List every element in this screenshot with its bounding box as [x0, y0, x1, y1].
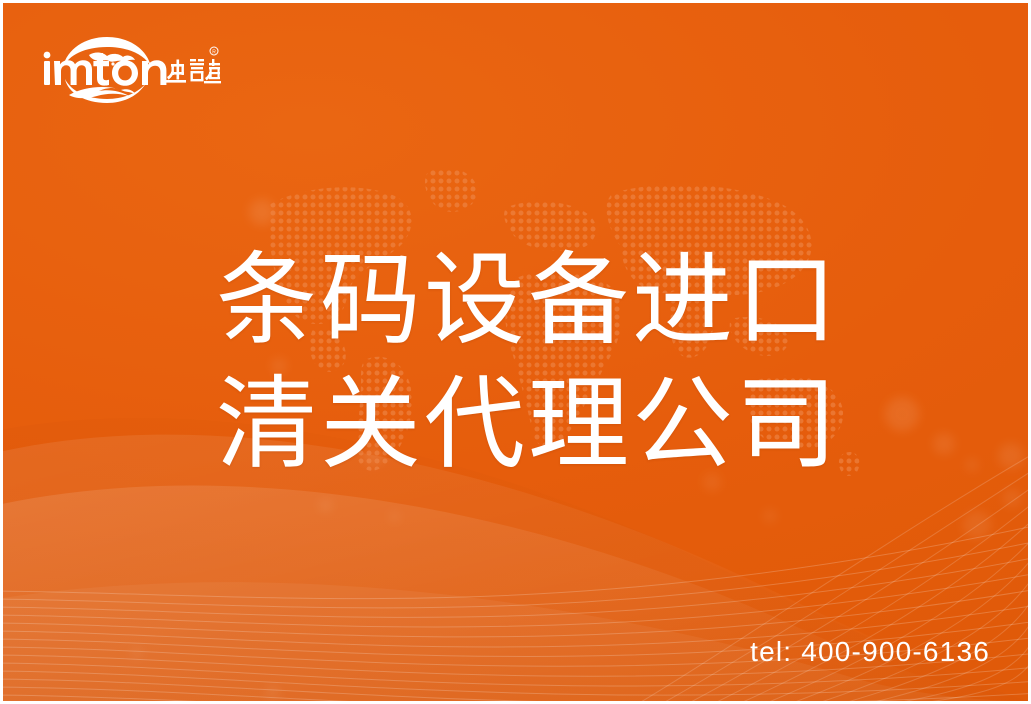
headline-line-1: 条码设备进口 [216, 239, 840, 363]
svg-text:R: R [212, 49, 216, 55]
promo-banner: R 条码设备进口 清关代理公司 tel: 400-900-6136 [0, 0, 1031, 704]
headline-line-2: 清关代理公司 [216, 363, 840, 487]
headline: 条码设备进口 清关代理公司 [216, 239, 840, 487]
brand-logo[interactable]: R [41, 33, 221, 105]
contact-phone[interactable]: tel: 400-900-6136 [750, 636, 990, 668]
